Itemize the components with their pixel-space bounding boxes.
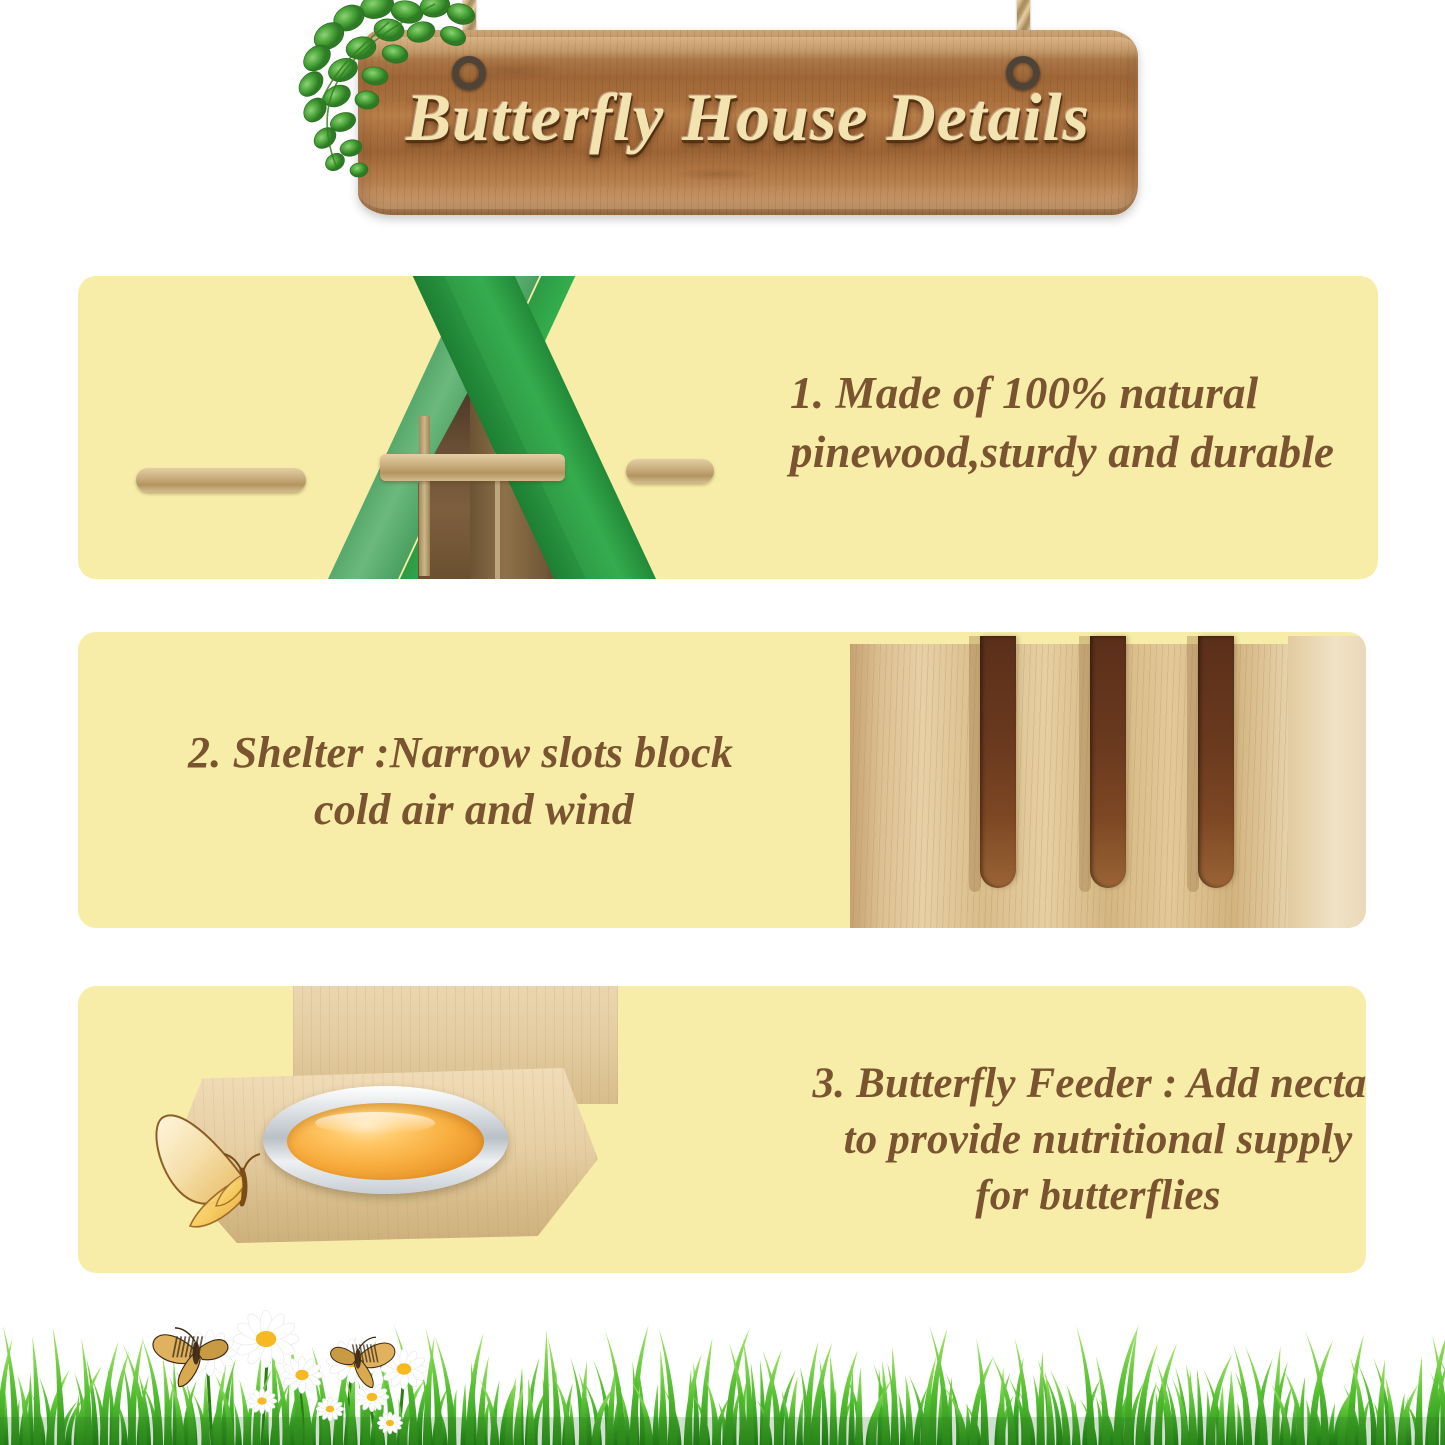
feature-card-1: 1. Made of 100% natural pinewood,sturdy …: [78, 276, 1378, 579]
shelter-slot-3: [1198, 636, 1234, 888]
green-a-frame-butterfly-house-photo: [118, 276, 758, 579]
perch-post: [419, 416, 430, 576]
page-title: Butterfly House Details: [358, 78, 1138, 157]
perch-dowel-right: [626, 459, 714, 483]
dish-highlight: [315, 1112, 435, 1134]
shelter-slot-1: [980, 636, 1016, 888]
shelter-slot-2: [1090, 636, 1126, 888]
daisy-flower-icon: [233, 1310, 299, 1367]
daisy-flower-icon: [281, 1357, 323, 1394]
header-sign: Butterfly House Details: [330, 0, 1150, 240]
daisy-flower-icon: [377, 1412, 402, 1434]
feature-3-line-1: 3. Butterfly Feeder : Add nectar: [778, 1056, 1366, 1112]
daisy-flower-icon: [316, 1397, 344, 1421]
feature-2-line-1: 2. Shelter :Narrow slots block: [188, 724, 818, 781]
feature-card-2: 2. Shelter :Narrow slots block cold air …: [78, 632, 1366, 928]
perch-dowel-left: [136, 468, 306, 492]
grass-daisies-butterflies-border: [0, 1305, 1445, 1445]
feature-card-3: 3. Butterfly Feeder : Add nectar to prov…: [78, 986, 1366, 1273]
feature-3-line-2: to provide nutritional supply: [778, 1112, 1366, 1168]
feature-2-text: 2. Shelter :Narrow slots block cold air …: [188, 724, 818, 838]
perch-dowel-center: [380, 454, 565, 481]
feature-3-text: 3. Butterfly Feeder : Add nectar to prov…: [778, 1056, 1366, 1224]
grass-flowers-and-butterflies: [0, 1305, 1445, 1445]
daisy-flower-icon: [247, 1388, 277, 1414]
board-right-edge: [1288, 636, 1366, 928]
feature-1-line-2: pinewood,sturdy and durable: [790, 423, 1378, 482]
feature-1-text: 1. Made of 100% natural pinewood,sturdy …: [790, 364, 1378, 481]
feature-2-line-2: cold air and wind: [188, 781, 818, 838]
narrow-slot-shelter-panel-photo: [798, 632, 1366, 928]
feature-1-line-1: 1. Made of 100% natural: [790, 364, 1378, 423]
feature-3-line-3: for butterflies: [778, 1168, 1366, 1224]
butterfly-feeder-nectar-dish-photo: [108, 986, 768, 1273]
butterfly-icon: [146, 1084, 306, 1234]
infographic-page: Butterfly House Details: [0, 0, 1445, 1445]
slotted-wood-board: [850, 644, 1366, 928]
